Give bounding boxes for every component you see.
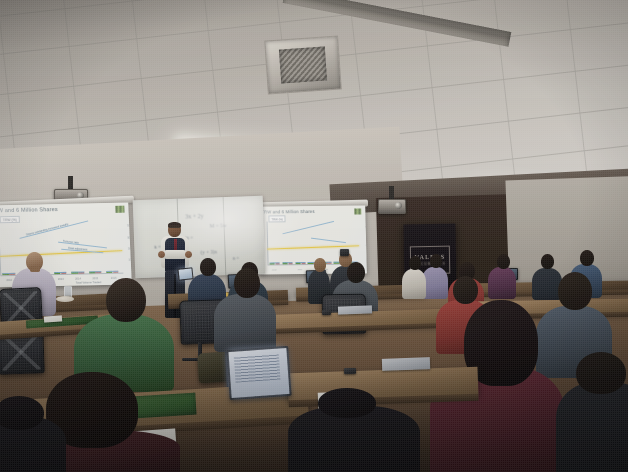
- conference-room-photo: TRW and 6 Million Shares TRW (%) 30% 25%…: [0, 0, 628, 472]
- chart-callout: Shares outstanding increased steadily: [26, 223, 69, 237]
- papers-stack: [338, 305, 372, 314]
- bar-group: [54, 272, 66, 274]
- attendee-white-blouse: [402, 256, 426, 298]
- papers-foreground-right: [382, 357, 430, 371]
- phone-on-table[interactable]: [322, 310, 331, 315]
- bar-group: [72, 271, 84, 273]
- company-logo-mark-right: [354, 208, 361, 214]
- notepad-mid-left: [44, 315, 62, 322]
- chart-callout: Turnover ratio: [63, 240, 79, 245]
- attendee-purple-shirt: [488, 254, 516, 298]
- slide-title-right: TRW and 6 Million Shares: [261, 208, 361, 214]
- bar-group: [106, 271, 118, 273]
- company-logo-mark: [115, 206, 124, 213]
- phone-foreground-right[interactable]: [344, 368, 356, 374]
- attendee-grey-tee-2: [214, 268, 276, 352]
- plate: [56, 296, 74, 302]
- hvac-diffuser-large: [264, 35, 342, 94]
- laptop-foreground-right[interactable]: [226, 346, 291, 400]
- presenter-hand-left: [158, 251, 165, 258]
- attendee-foreground-left-dark: [0, 396, 66, 472]
- attendee-foreground-far-right: [556, 352, 628, 472]
- slide-title: TRW and 6 Million Shares: [0, 206, 125, 215]
- attendee-foreground-right-dark: [288, 388, 420, 472]
- presenter-hair: [168, 222, 181, 228]
- presenter-hand-right: [185, 251, 192, 258]
- bar-group: [89, 271, 101, 273]
- ceiling-projector-right: [378, 186, 404, 212]
